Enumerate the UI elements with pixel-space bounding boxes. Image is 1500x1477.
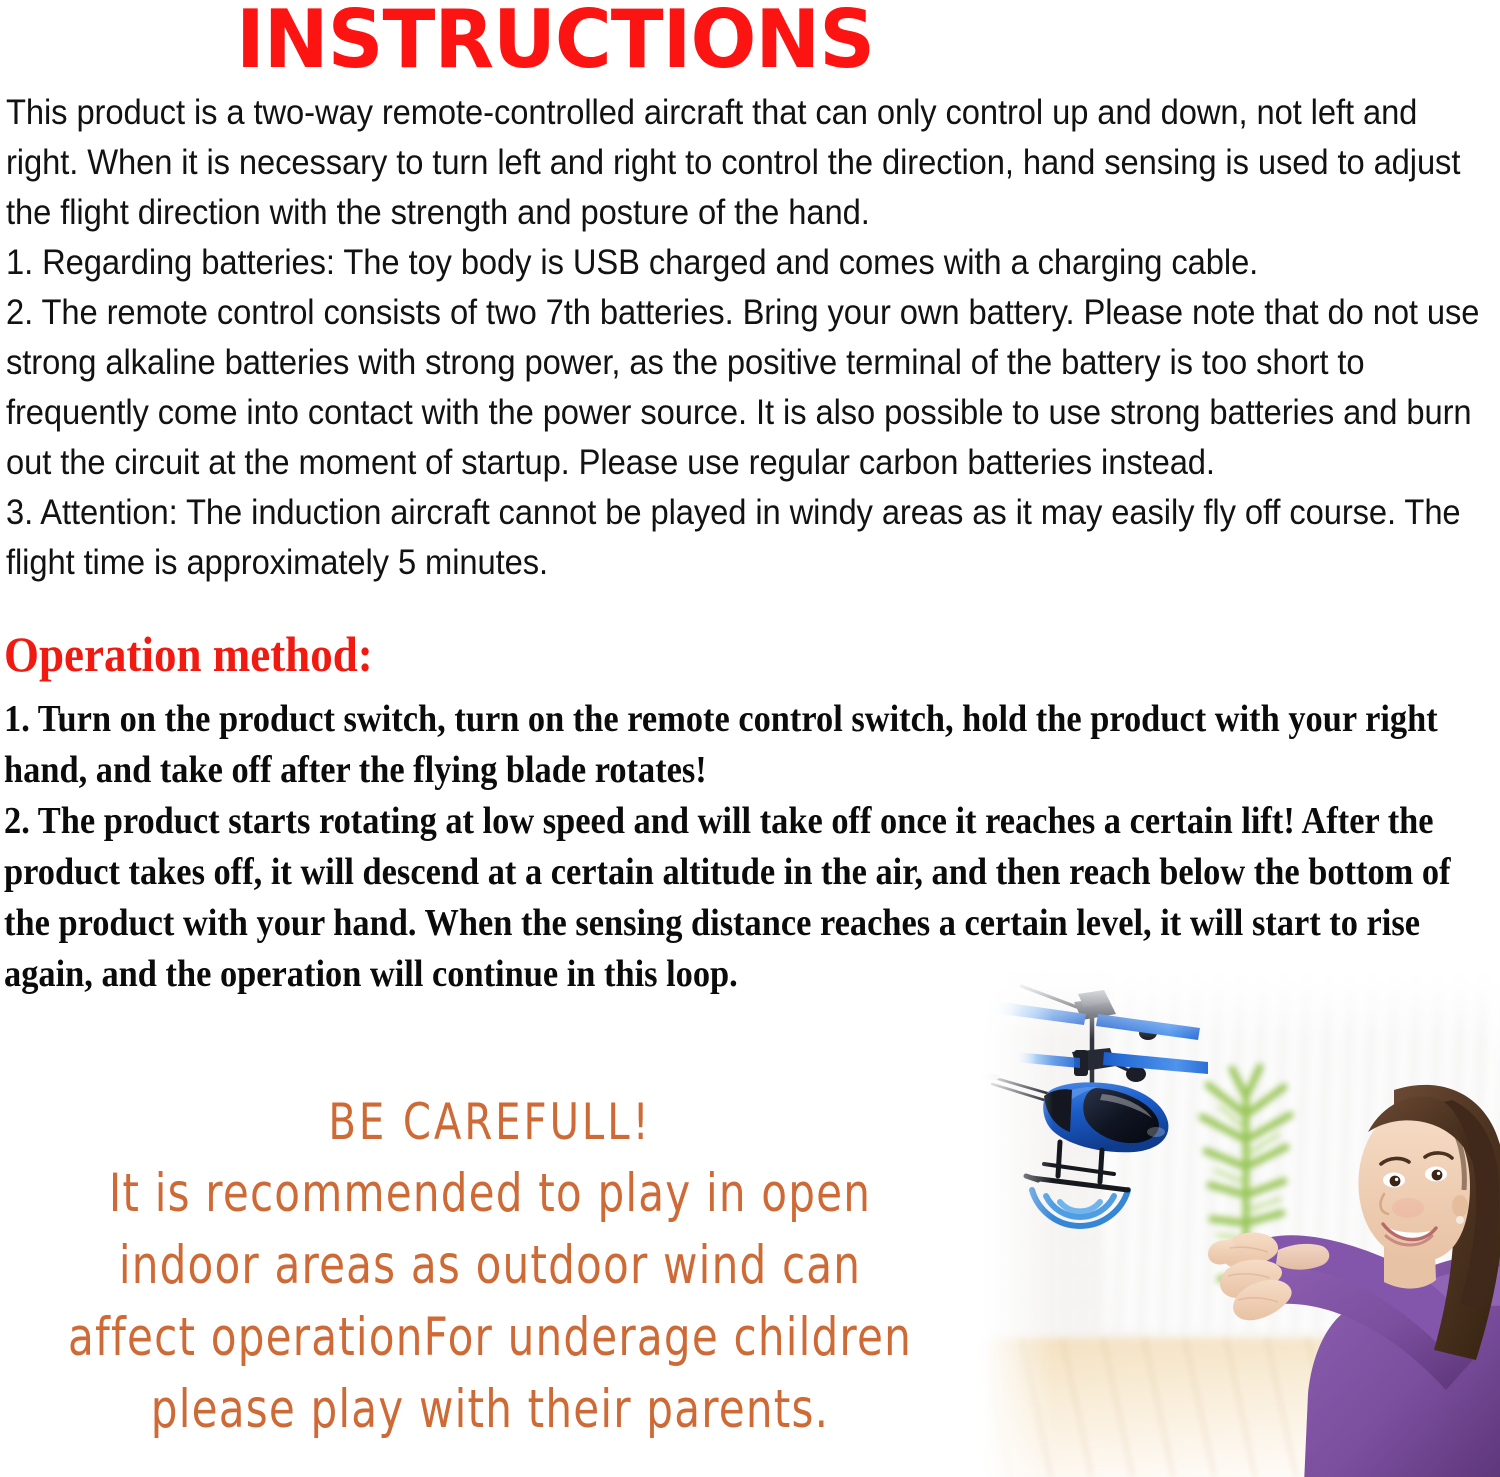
numbered-item-2: 2. The remote control consists of two 7t…: [6, 288, 1493, 488]
instructions-body: This product is a two-way remote-control…: [6, 88, 1492, 588]
intro-paragraph: This product is a two-way remote-control…: [6, 88, 1493, 238]
numbered-item-1: 1. Regarding batteries: The toy body is …: [6, 238, 1493, 288]
product-photo: [968, 962, 1500, 1477]
numbered-item-3: 3. Attention: The induction aircraft can…: [6, 488, 1493, 588]
page-title: INSTRUCTIONS: [0, 0, 1121, 85]
operation-steps: 1. Turn on the product switch, turn on t…: [4, 694, 1494, 1000]
warning-block: BE CAREFULL! It is recommended to play i…: [0, 1078, 980, 1438]
operation-step-1: 1. Turn on the product switch, turn on t…: [4, 694, 1493, 796]
child-figure: [1208, 1054, 1500, 1477]
helicopter-toy: [986, 980, 1236, 1210]
operation-method-heading: Operation method:: [4, 628, 373, 680]
warning-line-4: please play with their parents.: [10, 1366, 970, 1454]
